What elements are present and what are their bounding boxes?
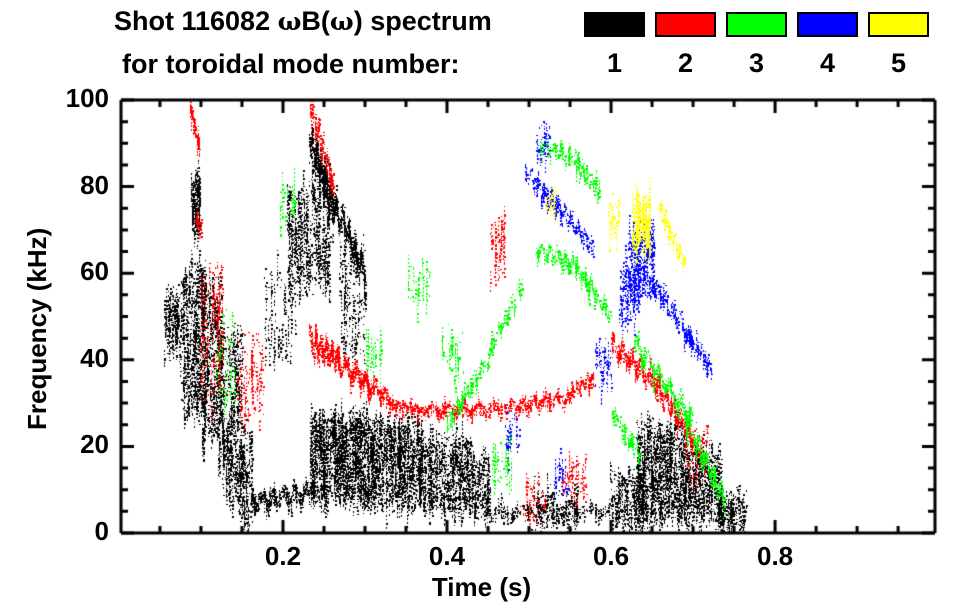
legend-swatch-mode-n2 [655, 12, 716, 37]
y-axis-title: Frequency (kHz) [22, 228, 53, 430]
legend-label-mode-n4: 4 [797, 48, 858, 79]
y-tick-label-100: 100 [29, 83, 109, 114]
x-axis-title: Time (s) [0, 572, 963, 603]
legend-label-mode-n5: 5 [868, 48, 929, 79]
legend-swatch-mode-n4 [797, 12, 858, 37]
x-tick-label-0p4: 0.4 [402, 541, 492, 572]
legend-label-mode-n3: 3 [726, 48, 787, 79]
x-tick-label-0p2: 0.2 [238, 541, 328, 572]
legend-swatch-mode-n3 [726, 12, 787, 37]
plot-area [121, 100, 935, 533]
y-tick-label-20: 20 [29, 429, 109, 460]
spectrogram-figure: Shot 116082 ωB(ω) spectrum for toroidal … [0, 0, 963, 615]
y-tick-label-80: 80 [29, 170, 109, 201]
legend-label-mode-n1: 1 [584, 48, 645, 79]
x-tick-label-0p8: 0.8 [730, 541, 820, 572]
legend: 12345 [0, 0, 963, 96]
spectrogram-canvas [121, 100, 935, 533]
y-tick-label-0: 0 [29, 516, 109, 547]
legend-swatch-mode-n5 [868, 12, 929, 37]
legend-swatch-mode-n1 [584, 12, 645, 37]
x-tick-label-0p6: 0.6 [566, 541, 656, 572]
legend-label-mode-n2: 2 [655, 48, 716, 79]
